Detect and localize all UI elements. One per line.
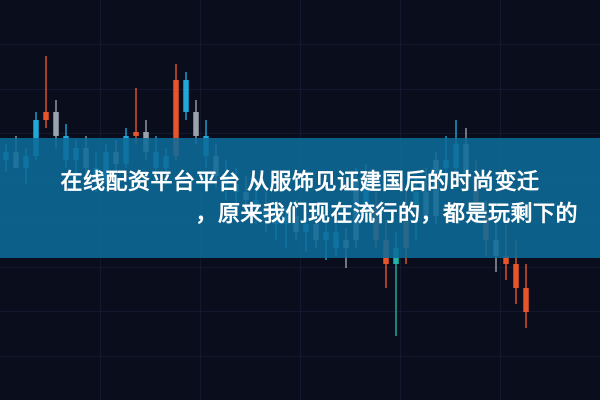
headline-banner: 在线配资平台平台 从服饰见证建国后的时尚变迁 ，原来我们现在流行的，都是玩剩下的: [0, 138, 600, 258]
headline-line-1: 在线配资平台平台 从服饰见证建国后的时尚变迁: [60, 166, 539, 198]
screenshot-root: 在线配资平台平台 从服饰见证建国后的时尚变迁 ，原来我们现在流行的，都是玩剩下的: [0, 0, 600, 400]
headline-line-2: ，原来我们现在流行的，都是玩剩下的: [195, 198, 592, 230]
